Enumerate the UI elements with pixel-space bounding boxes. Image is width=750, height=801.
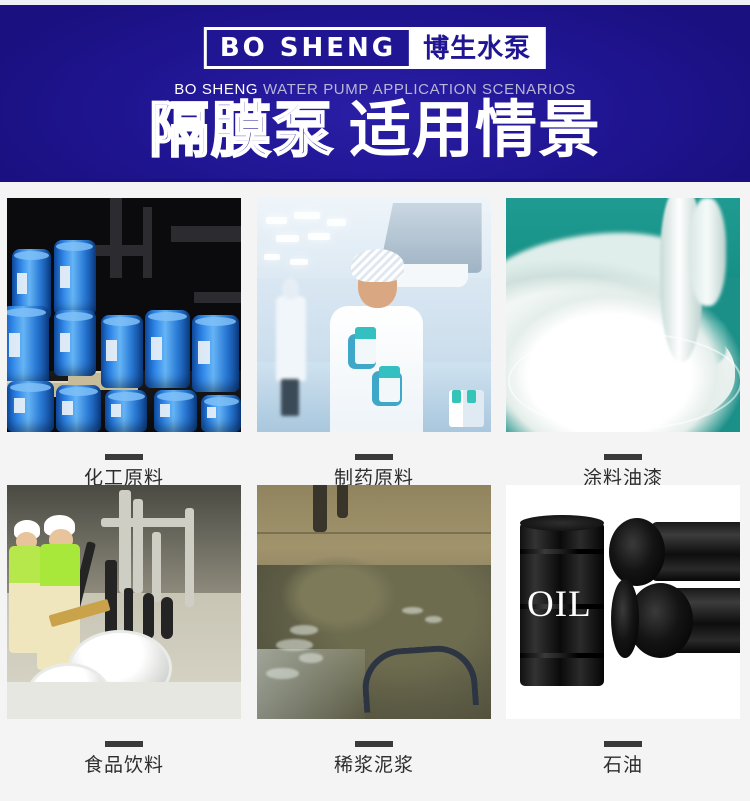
brand-logo: BO SHENG 博生水泵 bbox=[204, 27, 546, 69]
brand-logo-chinese: 博生水泵 bbox=[409, 30, 543, 66]
banner-title-solid: 适用情景 bbox=[349, 96, 601, 165]
food-beverage-photo bbox=[7, 485, 241, 719]
paint-coating-photo bbox=[506, 198, 740, 432]
oil-barrel-label: OIL bbox=[527, 586, 592, 623]
caption-dash-icon bbox=[355, 454, 393, 460]
caption-block: 涂料油漆 bbox=[506, 432, 740, 488]
caption-dash-icon bbox=[604, 741, 642, 747]
scenario-cell-chemical[interactable]: 化工原料 bbox=[7, 198, 241, 488]
caption-block: 石油 bbox=[506, 719, 740, 775]
slurry-mud-photo bbox=[257, 485, 491, 719]
chemical-drums-photo bbox=[7, 198, 241, 432]
caption-block: 食品饮料 bbox=[7, 719, 241, 775]
caption-block: 化工原料 bbox=[7, 432, 241, 488]
oil-barrels-photo: OIL bbox=[506, 485, 740, 719]
scenario-cell-slurry[interactable]: 稀浆泥浆 bbox=[257, 485, 491, 775]
scenario-cell-food[interactable]: 食品饮料 bbox=[7, 485, 241, 775]
caption-block: 稀浆泥浆 bbox=[257, 719, 491, 775]
scenario-caption: 食品饮料 bbox=[7, 756, 241, 775]
caption-dash-icon bbox=[105, 454, 143, 460]
page-banner: BO SHENG 博生水泵 BO SHENG WATER PUMP APPLIC… bbox=[0, 5, 750, 182]
scenario-cell-oil[interactable]: OIL 石油 bbox=[506, 485, 740, 775]
banner-subtitle-brand: BO SHENG bbox=[174, 81, 258, 98]
caption-block: 制药原料 bbox=[257, 432, 491, 488]
caption-dash-icon bbox=[105, 741, 143, 747]
banner-title-outline: 隔膜泵 bbox=[149, 97, 335, 164]
scenario-grid: 化工原料 bbox=[0, 182, 750, 801]
scenario-caption: 稀浆泥浆 bbox=[257, 756, 491, 775]
pharmaceutical-lab-photo bbox=[257, 198, 491, 432]
caption-dash-icon bbox=[604, 454, 642, 460]
brand-logo-english: BO SHENG bbox=[207, 30, 409, 66]
scenario-cell-pharmaceutical[interactable]: 制药原料 bbox=[257, 198, 491, 488]
banner-title: 隔膜泵适用情景 bbox=[0, 100, 750, 162]
caption-dash-icon bbox=[355, 741, 393, 747]
scenario-caption: 石油 bbox=[506, 756, 740, 775]
scenario-cell-paint[interactable]: 涂料油漆 bbox=[506, 198, 740, 488]
